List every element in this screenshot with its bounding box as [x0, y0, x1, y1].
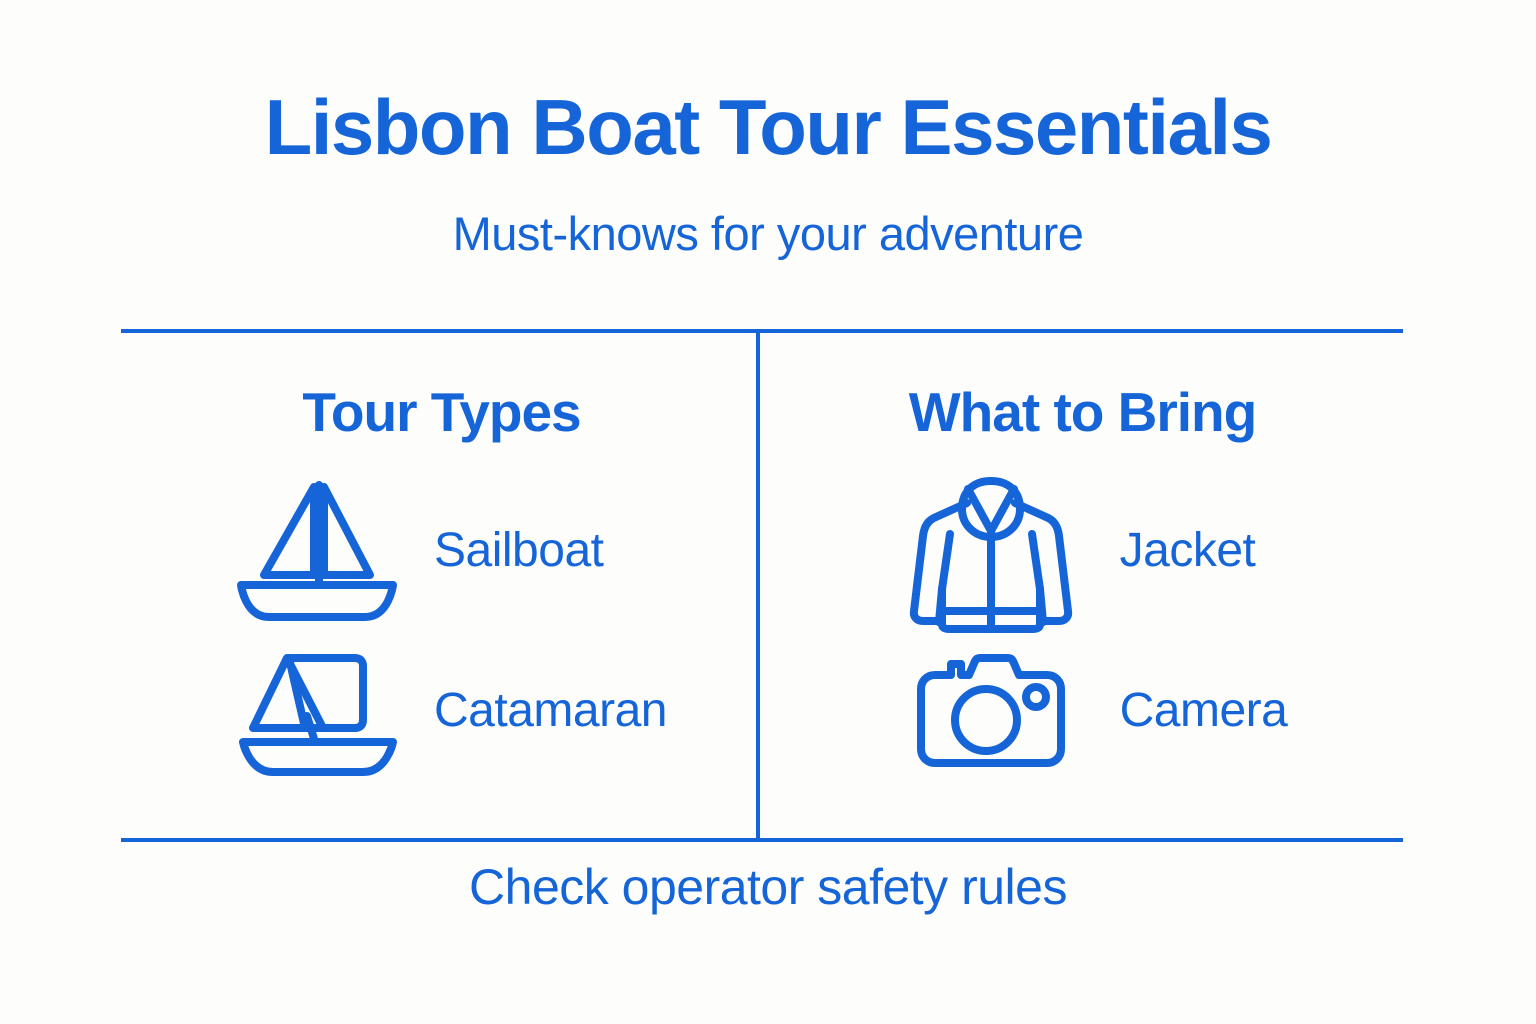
column-heading-tour-types: Tour Types: [302, 385, 580, 440]
list-item-camera[interactable]: Camera: [896, 636, 1288, 786]
header: Lisbon Boat Tour Essentials Must-knows f…: [0, 88, 1536, 257]
camera-icon: [896, 636, 1086, 786]
catamaran-icon: [222, 636, 412, 786]
list-item-label-sailboat: Sailboat: [434, 527, 603, 575]
page-subtitle: Must-knows for your adventure: [0, 210, 1536, 257]
jacket-icon: [896, 466, 1086, 636]
column-heading-what-to-bring: What to Bring: [909, 385, 1256, 440]
footer: Check operator safety rules: [0, 862, 1536, 912]
list-item-label-catamaran: Catamaran: [434, 687, 667, 735]
column-tour-types: Tour Types: [121, 333, 762, 838]
column-what-to-bring: What to Bring: [762, 333, 1403, 838]
list-item-jacket[interactable]: Jacket: [896, 466, 1288, 636]
list-item-sailboat[interactable]: Sailboat: [222, 466, 667, 636]
items-list-what-to-bring: Jacket Camera: [896, 466, 1288, 786]
page-title: Lisbon Boat Tour Essentials: [0, 88, 1536, 166]
columns-container: Tour Types: [121, 333, 1403, 838]
infographic-poster: Lisbon Boat Tour Essentials Must-knows f…: [0, 0, 1536, 1024]
list-item-label-camera: Camera: [1120, 687, 1288, 735]
items-list-tour-types: Sailboat: [222, 466, 667, 786]
list-item-catamaran[interactable]: Catamaran: [222, 636, 667, 786]
sailboat-icon: [222, 466, 412, 636]
footer-note: Check operator safety rules: [0, 862, 1536, 912]
list-item-label-jacket: Jacket: [1120, 527, 1256, 575]
divider-bottom: [121, 838, 1403, 842]
